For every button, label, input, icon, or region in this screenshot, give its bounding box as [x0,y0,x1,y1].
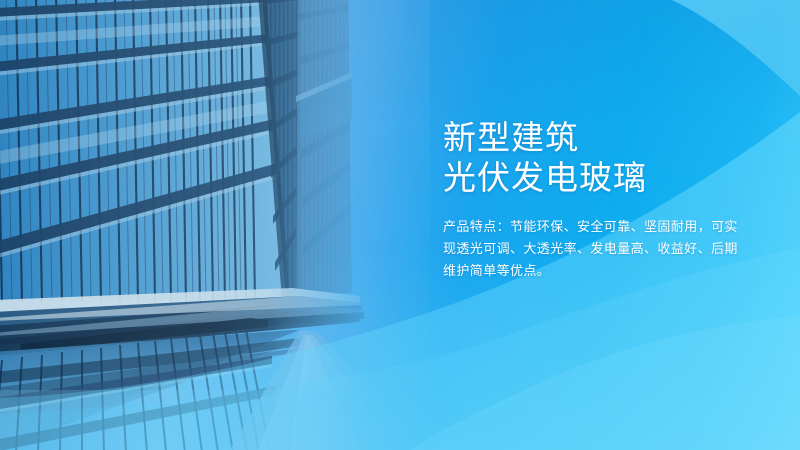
text-block: 新型建筑 光伏发电玻璃 产品特点：节能环保、安全可靠、坚固耐用，可实现透光可调、… [443,118,793,282]
page-title: 新型建筑 光伏发电玻璃 [443,118,793,198]
headline-line-1: 新型建筑 [443,119,579,156]
product-features-text: 产品特点：节能环保、安全可靠、坚固耐用，可实现透光可调、大透光率、发电量高、收益… [443,216,749,282]
promo-slide: 新型建筑 光伏发电玻璃 产品特点：节能环保、安全可靠、坚固耐用，可实现透光可调、… [0,0,800,450]
headline-line-2: 光伏发电玻璃 [443,158,793,198]
wave-top-right [672,0,800,96]
